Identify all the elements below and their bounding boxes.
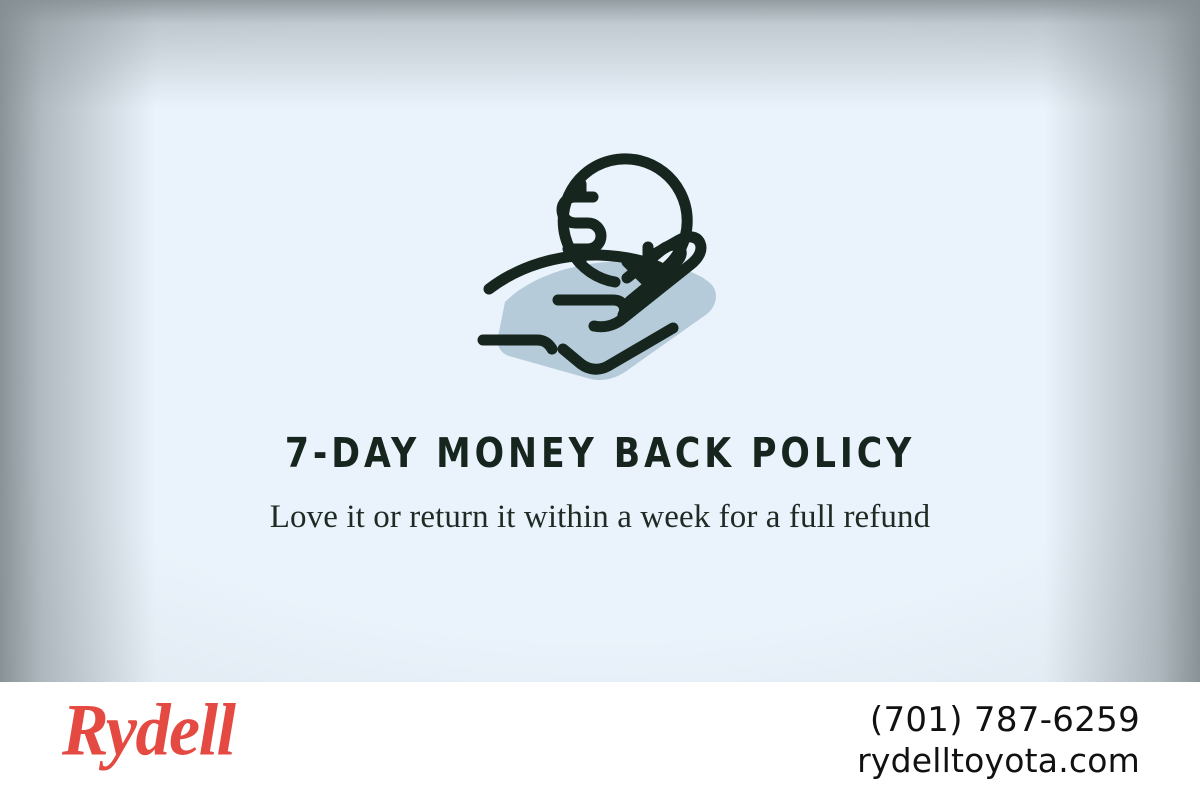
subtitle: Love it or return it within a week for a… [250,496,950,540]
icon-container [0,150,1200,390]
rydell-logo: Rydell [62,694,234,768]
hand-holding-money-return-icon [475,150,725,390]
headline: 7-DAY MONEY BACK POLICY [36,432,1164,475]
website-url[interactable]: rydelltoyota.com [857,741,1140,781]
phone-number[interactable]: (701) 787-6259 [857,700,1140,741]
contact-block: (701) 787-6259 rydelltoyota.com [857,700,1140,782]
promo-card: 7-DAY MONEY BACK POLICY Love it or retur… [0,0,1200,800]
